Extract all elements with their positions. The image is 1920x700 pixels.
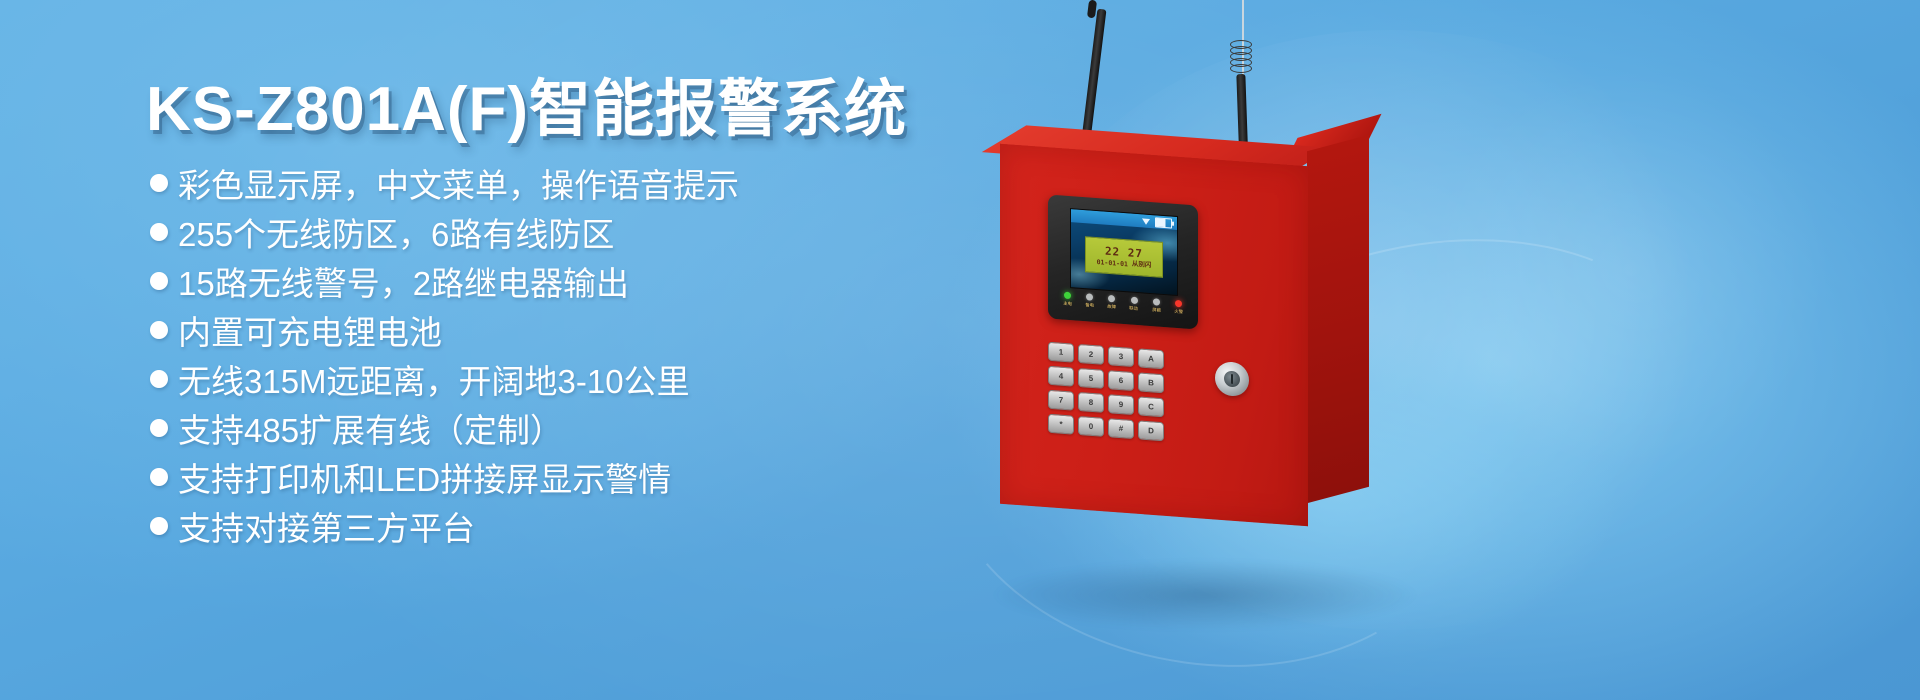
led-indicator-icon — [1175, 300, 1182, 308]
enclosure-front-face — [1000, 144, 1308, 527]
bullet-dot-icon — [150, 174, 168, 192]
led-label: 屏蔽 — [1152, 308, 1161, 313]
control-console: 22 27 01-01-01 从别闪 主电 备电 — [1048, 194, 1198, 329]
status-indicator: 火警 — [1169, 299, 1188, 315]
enclosure-side-face — [1307, 135, 1369, 504]
lcd-display[interactable]: 22 27 01-01-01 从别闪 — [1070, 208, 1178, 296]
keypad-key[interactable]: 8 — [1078, 392, 1104, 413]
list-item: 无线315M远距离，开阔地3-10公里 — [150, 354, 739, 403]
list-item: 内置可充电锂电池 — [150, 305, 739, 354]
led-label: 故障 — [1107, 305, 1116, 310]
text-column: KS-Z801A(F)智能报警系统 彩色显示屏，中文菜单，操作语音提示 255个… — [0, 0, 960, 700]
led-indicator-icon — [1108, 295, 1115, 303]
keypad-key[interactable]: D — [1138, 420, 1164, 441]
keypad-key[interactable]: A — [1138, 348, 1164, 369]
product-banner: KS-Z801A(F)智能报警系统 彩色显示屏，中文菜单，操作语音提示 255个… — [0, 0, 1920, 700]
feature-text: 支持打印机和LED拼接屏显示警情 — [178, 453, 671, 501]
keypad[interactable]: 1 2 3 A 4 5 6 B 7 8 9 C * 0 # D — [1048, 342, 1164, 442]
keypad-key[interactable]: 5 — [1078, 368, 1104, 389]
lcd-clock: 22 27 — [1105, 245, 1143, 259]
keypad-key[interactable]: C — [1138, 396, 1164, 417]
page-title: KS-Z801A(F)智能报警系统 — [146, 58, 907, 148]
led-indicator-icon — [1064, 292, 1071, 300]
antenna-coil — [1230, 40, 1250, 76]
led-indicator-icon — [1153, 298, 1160, 306]
keypad-key[interactable]: 6 — [1108, 370, 1134, 391]
feature-text: 支持对接第三方平台 — [178, 502, 475, 550]
bullet-dot-icon — [150, 419, 168, 437]
status-indicator: 屏蔽 — [1147, 298, 1166, 314]
alarm-panel-product-image: 22 27 01-01-01 从别闪 主电 备电 — [960, 0, 1920, 700]
keypad-key[interactable]: 7 — [1048, 390, 1074, 411]
feature-text: 无线315M远距离，开阔地3-10公里 — [178, 355, 690, 403]
feature-list: 彩色显示屏，中文菜单，操作语音提示 255个无线防区，6路有线防区 15路无线警… — [150, 158, 739, 550]
drop-shadow — [990, 560, 1420, 630]
battery-icon — [1155, 217, 1172, 228]
bullet-dot-icon — [150, 370, 168, 388]
list-item: 支持打印机和LED拼接屏显示警情 — [150, 452, 739, 501]
list-item: 支持485扩展有线（定制） — [150, 403, 739, 452]
keypad-key[interactable]: 9 — [1108, 394, 1134, 415]
status-indicator: 故障 — [1102, 294, 1121, 310]
keypad-key[interactable]: * — [1048, 414, 1074, 435]
signal-icon — [1142, 218, 1150, 225]
led-indicator-icon — [1131, 297, 1138, 305]
lcd-subline: 01-01-01 从别闪 — [1097, 259, 1152, 270]
status-indicator: 主电 — [1058, 291, 1077, 307]
list-item: 255个无线防区，6路有线防区 — [150, 207, 739, 256]
led-label: 备电 — [1085, 303, 1094, 308]
status-indicator: 联动 — [1125, 296, 1144, 312]
feature-text: 支持485扩展有线（定制） — [178, 404, 563, 452]
bullet-dot-icon — [150, 223, 168, 241]
led-label: 联动 — [1130, 307, 1139, 312]
antenna-left-tip — [1087, 0, 1097, 18]
feature-text: 15路无线警号，2路继电器输出 — [178, 257, 629, 305]
bullet-dot-icon — [150, 517, 168, 535]
led-indicator-icon — [1086, 293, 1093, 301]
lcd-mode: 从别闪 — [1132, 261, 1152, 269]
keypad-key[interactable]: 3 — [1108, 346, 1134, 367]
keypad-key[interactable]: 2 — [1078, 344, 1104, 365]
keypad-key[interactable]: # — [1108, 418, 1134, 439]
lcd-date: 01-01-01 — [1097, 259, 1128, 268]
list-item: 15路无线警号，2路继电器输出 — [150, 256, 739, 305]
lock-keyhole — [1224, 370, 1240, 387]
feature-text: 255个无线防区，6路有线防区 — [178, 208, 614, 256]
status-indicator: 备电 — [1080, 293, 1099, 309]
led-label: 主电 — [1063, 302, 1072, 307]
keypad-key[interactable]: 1 — [1048, 342, 1074, 363]
keypad-key[interactable]: 0 — [1078, 416, 1104, 437]
keypad-key[interactable]: B — [1138, 372, 1164, 393]
lcd-info-card: 22 27 01-01-01 从别闪 — [1085, 236, 1163, 278]
list-item: 彩色显示屏，中文菜单，操作语音提示 — [150, 158, 739, 207]
bullet-dot-icon — [150, 321, 168, 339]
feature-text: 内置可充电锂电池 — [178, 306, 442, 354]
feature-text: 彩色显示屏，中文菜单，操作语音提示 — [178, 159, 739, 207]
bullet-dot-icon — [150, 272, 168, 290]
bullet-dot-icon — [150, 468, 168, 486]
list-item: 支持对接第三方平台 — [150, 501, 739, 550]
keypad-key[interactable]: 4 — [1048, 366, 1074, 387]
led-label: 火警 — [1174, 310, 1183, 315]
